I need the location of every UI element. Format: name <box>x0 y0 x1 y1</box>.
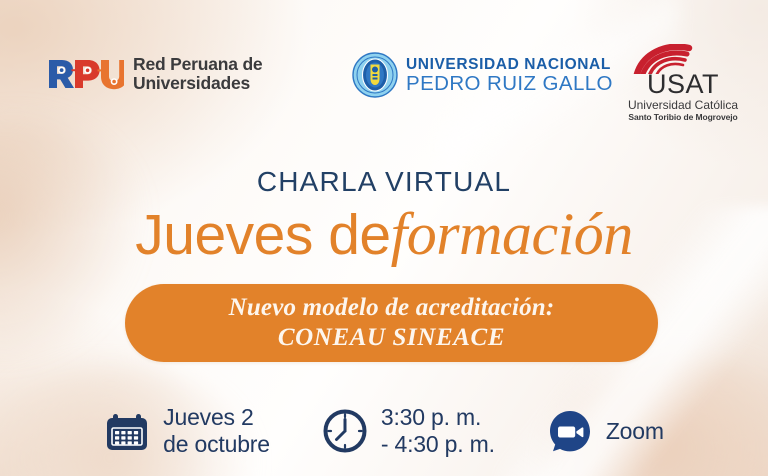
detail-date-line2: de octubre <box>163 431 270 458</box>
logo-unprg: UNIVERSIDAD NACIONAL PEDRO RUIZ GALLO <box>352 52 613 98</box>
detail-platform: Zoom <box>547 408 664 454</box>
zoom-video-icon <box>547 408 593 454</box>
event-kicker: CHARLA VIRTUAL <box>0 166 768 198</box>
logo-usat-line1: Universidad Católica <box>608 98 758 112</box>
topic-badge-line1: Nuevo modelo de acreditación: <box>229 293 555 323</box>
logo-row: Red Peruana de Universidades UNIVERSIDAD… <box>0 40 768 110</box>
topic-badge-line2: CONEAU SINEACE <box>278 323 505 353</box>
rpu-monogram-icon <box>46 57 124 91</box>
event-title-italic: formación <box>391 201 633 267</box>
logo-usat-acronym: USAT <box>608 71 758 98</box>
detail-time-text: 3:30 p. m. - 4:30 p. m. <box>381 404 495 458</box>
detail-date: Jueves 2 de octubre <box>104 404 270 458</box>
event-poster: Red Peruana de Universidades UNIVERSIDAD… <box>0 0 768 476</box>
detail-platform-line1: Zoom <box>606 418 664 445</box>
logo-rpu: Red Peruana de Universidades <box>46 55 262 93</box>
detail-time-line1: 3:30 p. m. <box>381 404 495 431</box>
logo-unprg-text: UNIVERSIDAD NACIONAL PEDRO RUIZ GALLO <box>406 56 613 95</box>
detail-time-line2: - 4:30 p. m. <box>381 431 495 458</box>
unprg-seal-icon <box>352 52 398 98</box>
detail-date-line1: Jueves 2 <box>163 404 270 431</box>
logo-usat-line2: Santo Toribio de Mogrovejo <box>608 112 758 123</box>
clock-icon <box>322 408 368 454</box>
detail-date-text: Jueves 2 de octubre <box>163 404 270 458</box>
logo-unprg-line1: UNIVERSIDAD NACIONAL <box>406 56 613 73</box>
detail-platform-text: Zoom <box>606 418 664 445</box>
topic-badge: Nuevo modelo de acreditación: CONEAU SIN… <box>125 284 658 362</box>
logo-rpu-line1: Red Peruana de <box>133 55 262 74</box>
calendar-icon <box>104 408 150 454</box>
logo-usat: USAT Universidad Católica Santo Toribio … <box>608 44 758 123</box>
logo-rpu-line2: Universidades <box>133 74 262 93</box>
detail-time: 3:30 p. m. - 4:30 p. m. <box>322 404 495 458</box>
event-title: Jueves deformación <box>0 200 768 269</box>
logo-rpu-text: Red Peruana de Universidades <box>133 55 262 93</box>
event-title-regular: Jueves de <box>135 203 390 267</box>
event-details-row: Jueves 2 de octubre 3:30 p. m. - 4:30 p.… <box>0 398 768 464</box>
logo-unprg-line2: PEDRO RUIZ GALLO <box>406 73 613 95</box>
